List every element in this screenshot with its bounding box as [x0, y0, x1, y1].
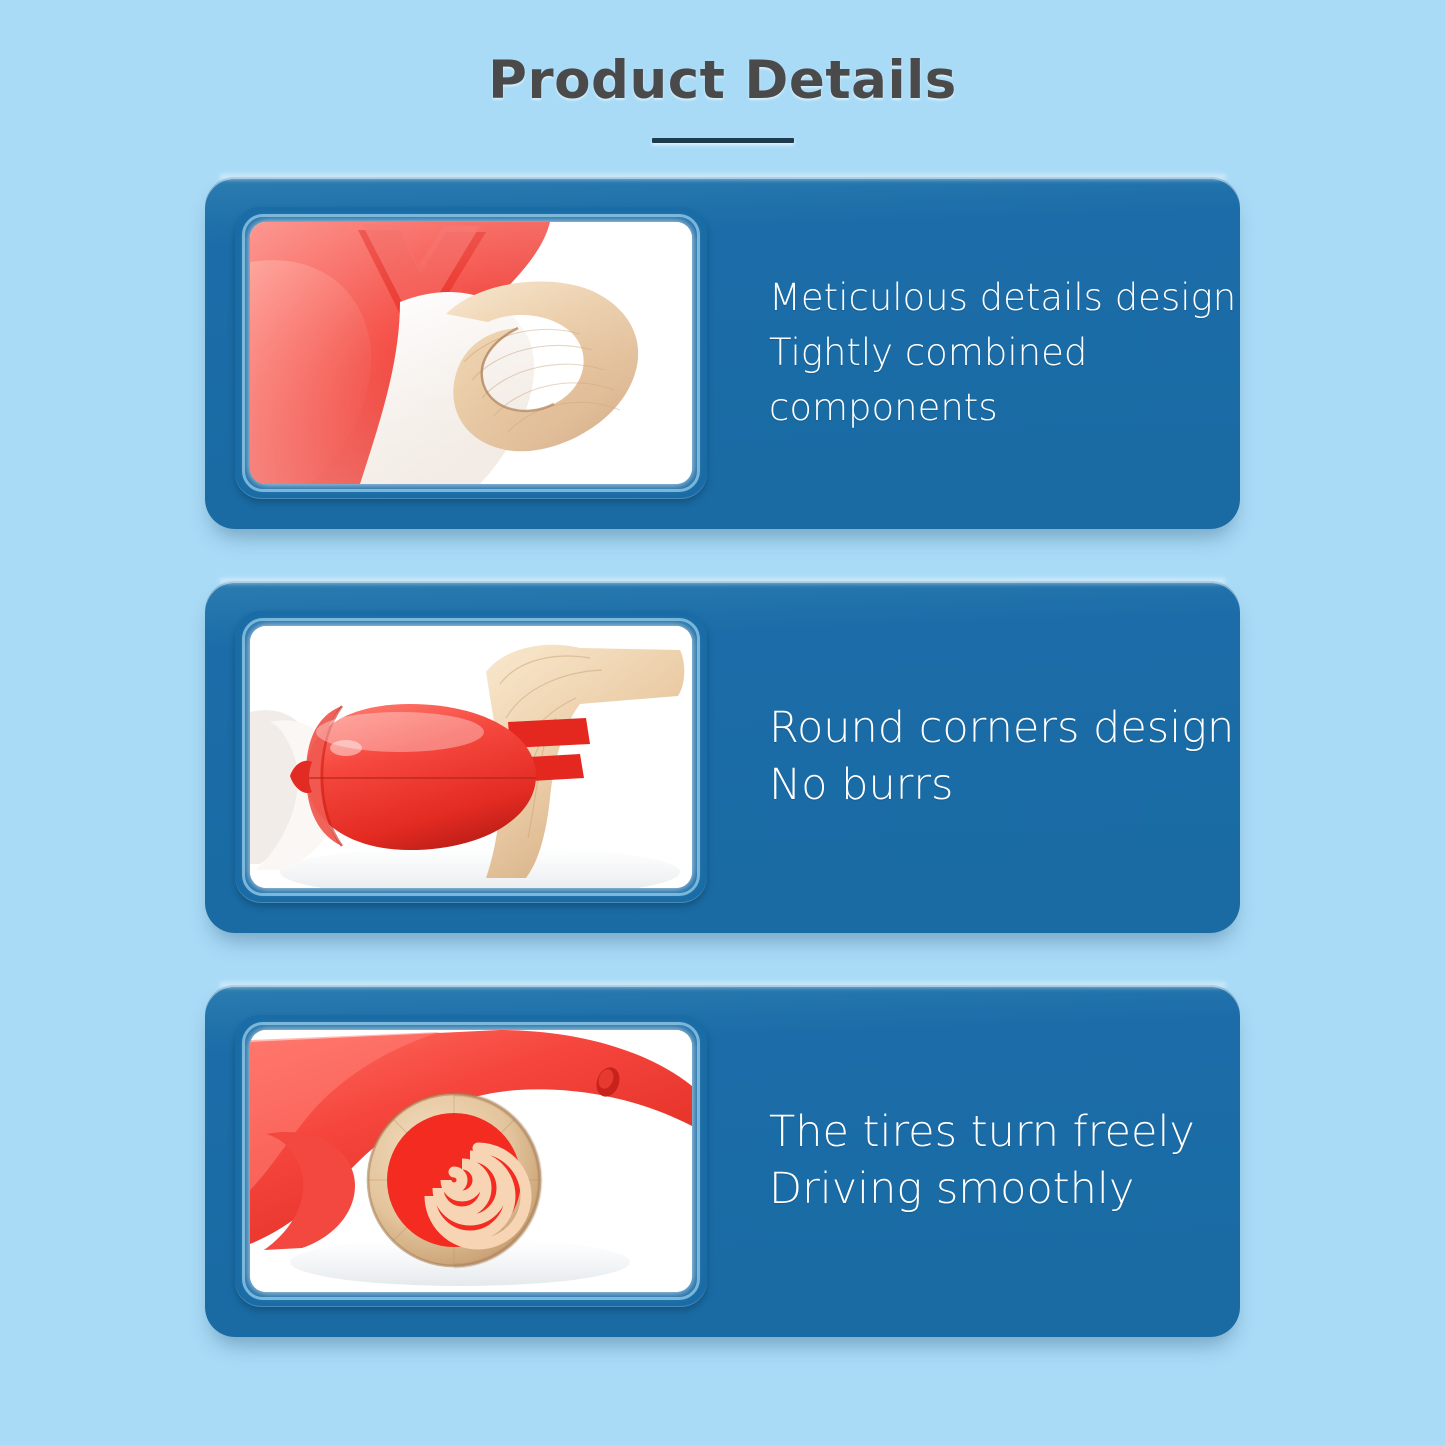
title-divider-wrap	[0, 138, 1445, 143]
wooden-wheel-closeup-photo	[250, 1030, 692, 1292]
feature-text-line: Driving smoothly	[769, 1161, 1200, 1218]
wooden-toy-joint-closeup-photo	[250, 222, 692, 484]
photo-artwork	[250, 626, 692, 888]
feature-card-text: The tires turn freely Driving smoothly	[707, 1104, 1240, 1218]
feature-card-text: Round corners design No burrs	[707, 700, 1274, 814]
feature-card-tires-turn-freely[interactable]: The tires turn freely Driving smoothly	[205, 985, 1240, 1337]
feature-card-text: Meticulous details design Tightly combin…	[707, 271, 1276, 435]
photo-frame	[235, 1015, 707, 1307]
page-header: Product Details	[0, 0, 1445, 143]
toy-nose-cone-closeup-photo	[250, 626, 692, 888]
photo-artwork	[250, 222, 692, 484]
feature-card-round-corners[interactable]: Round corners design No burrs	[205, 581, 1240, 933]
title-divider	[652, 138, 794, 143]
photo-frame	[235, 611, 707, 903]
feature-card-list: Meticulous details design Tightly combin…	[0, 177, 1445, 1337]
feature-text-line: components	[769, 381, 1236, 436]
feature-text-line: The tires turn freely	[769, 1104, 1200, 1161]
photo-artwork	[250, 1030, 692, 1292]
page-title: Product Details	[0, 52, 1445, 110]
feature-text-line: Meticulous details design	[769, 271, 1236, 326]
photo-frame	[235, 207, 707, 499]
feature-text-line: Round corners design	[769, 700, 1234, 757]
feature-card-meticulous-details[interactable]: Meticulous details design Tightly combin…	[205, 177, 1240, 529]
product-details-page: Product Details	[0, 0, 1445, 1445]
feature-text-line: No burrs	[769, 757, 1234, 814]
feature-text-line: Tightly combined	[769, 326, 1236, 381]
